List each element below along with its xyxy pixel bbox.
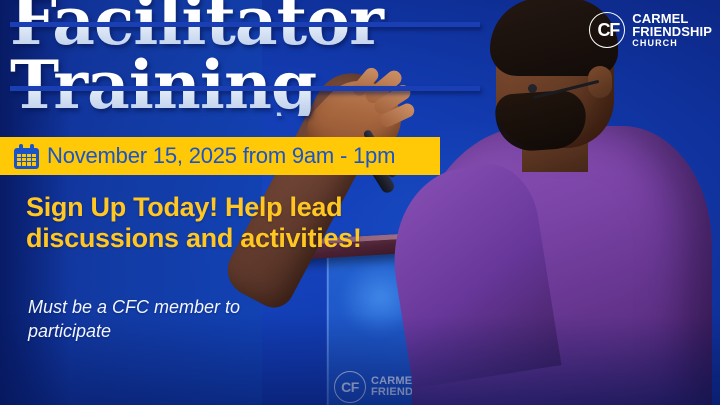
date-banner: November 15, 2025 from 9am - 1pm	[0, 137, 440, 175]
page-title: Facilitator Training	[10, 0, 480, 116]
event-date-text: November 15, 2025 from 9am - 1pm	[47, 143, 395, 169]
church-logo-line2: FRIENDSHIP	[632, 25, 712, 38]
headset-mic-capsule	[528, 84, 537, 93]
calendar-icon	[14, 144, 39, 169]
title-inline-stripe	[10, 86, 480, 91]
church-logo: CF CARMEL FRIENDSHIP CHURCH	[589, 12, 712, 48]
church-logo-line3: CHURCH	[632, 39, 712, 48]
eligibility-note: Must be a CFC member to participate	[28, 295, 328, 344]
church-logo-wordmark: CARMEL FRIENDSHIP CHURCH	[632, 12, 712, 48]
title-line-2: Training	[10, 54, 480, 116]
cf-monogram-icon: CF	[589, 12, 625, 48]
title-inline-stripe	[10, 22, 480, 27]
title-line-1: Facilitator	[10, 0, 480, 52]
cf-monogram-letters: CF	[589, 12, 625, 48]
facilitator-training-flyer: CF CARMEL FRIENDSHIP	[0, 0, 720, 405]
call-to-action-headline: Sign Up Today! Help lead discussions and…	[26, 192, 446, 255]
calendar-icon-grid	[17, 154, 36, 166]
